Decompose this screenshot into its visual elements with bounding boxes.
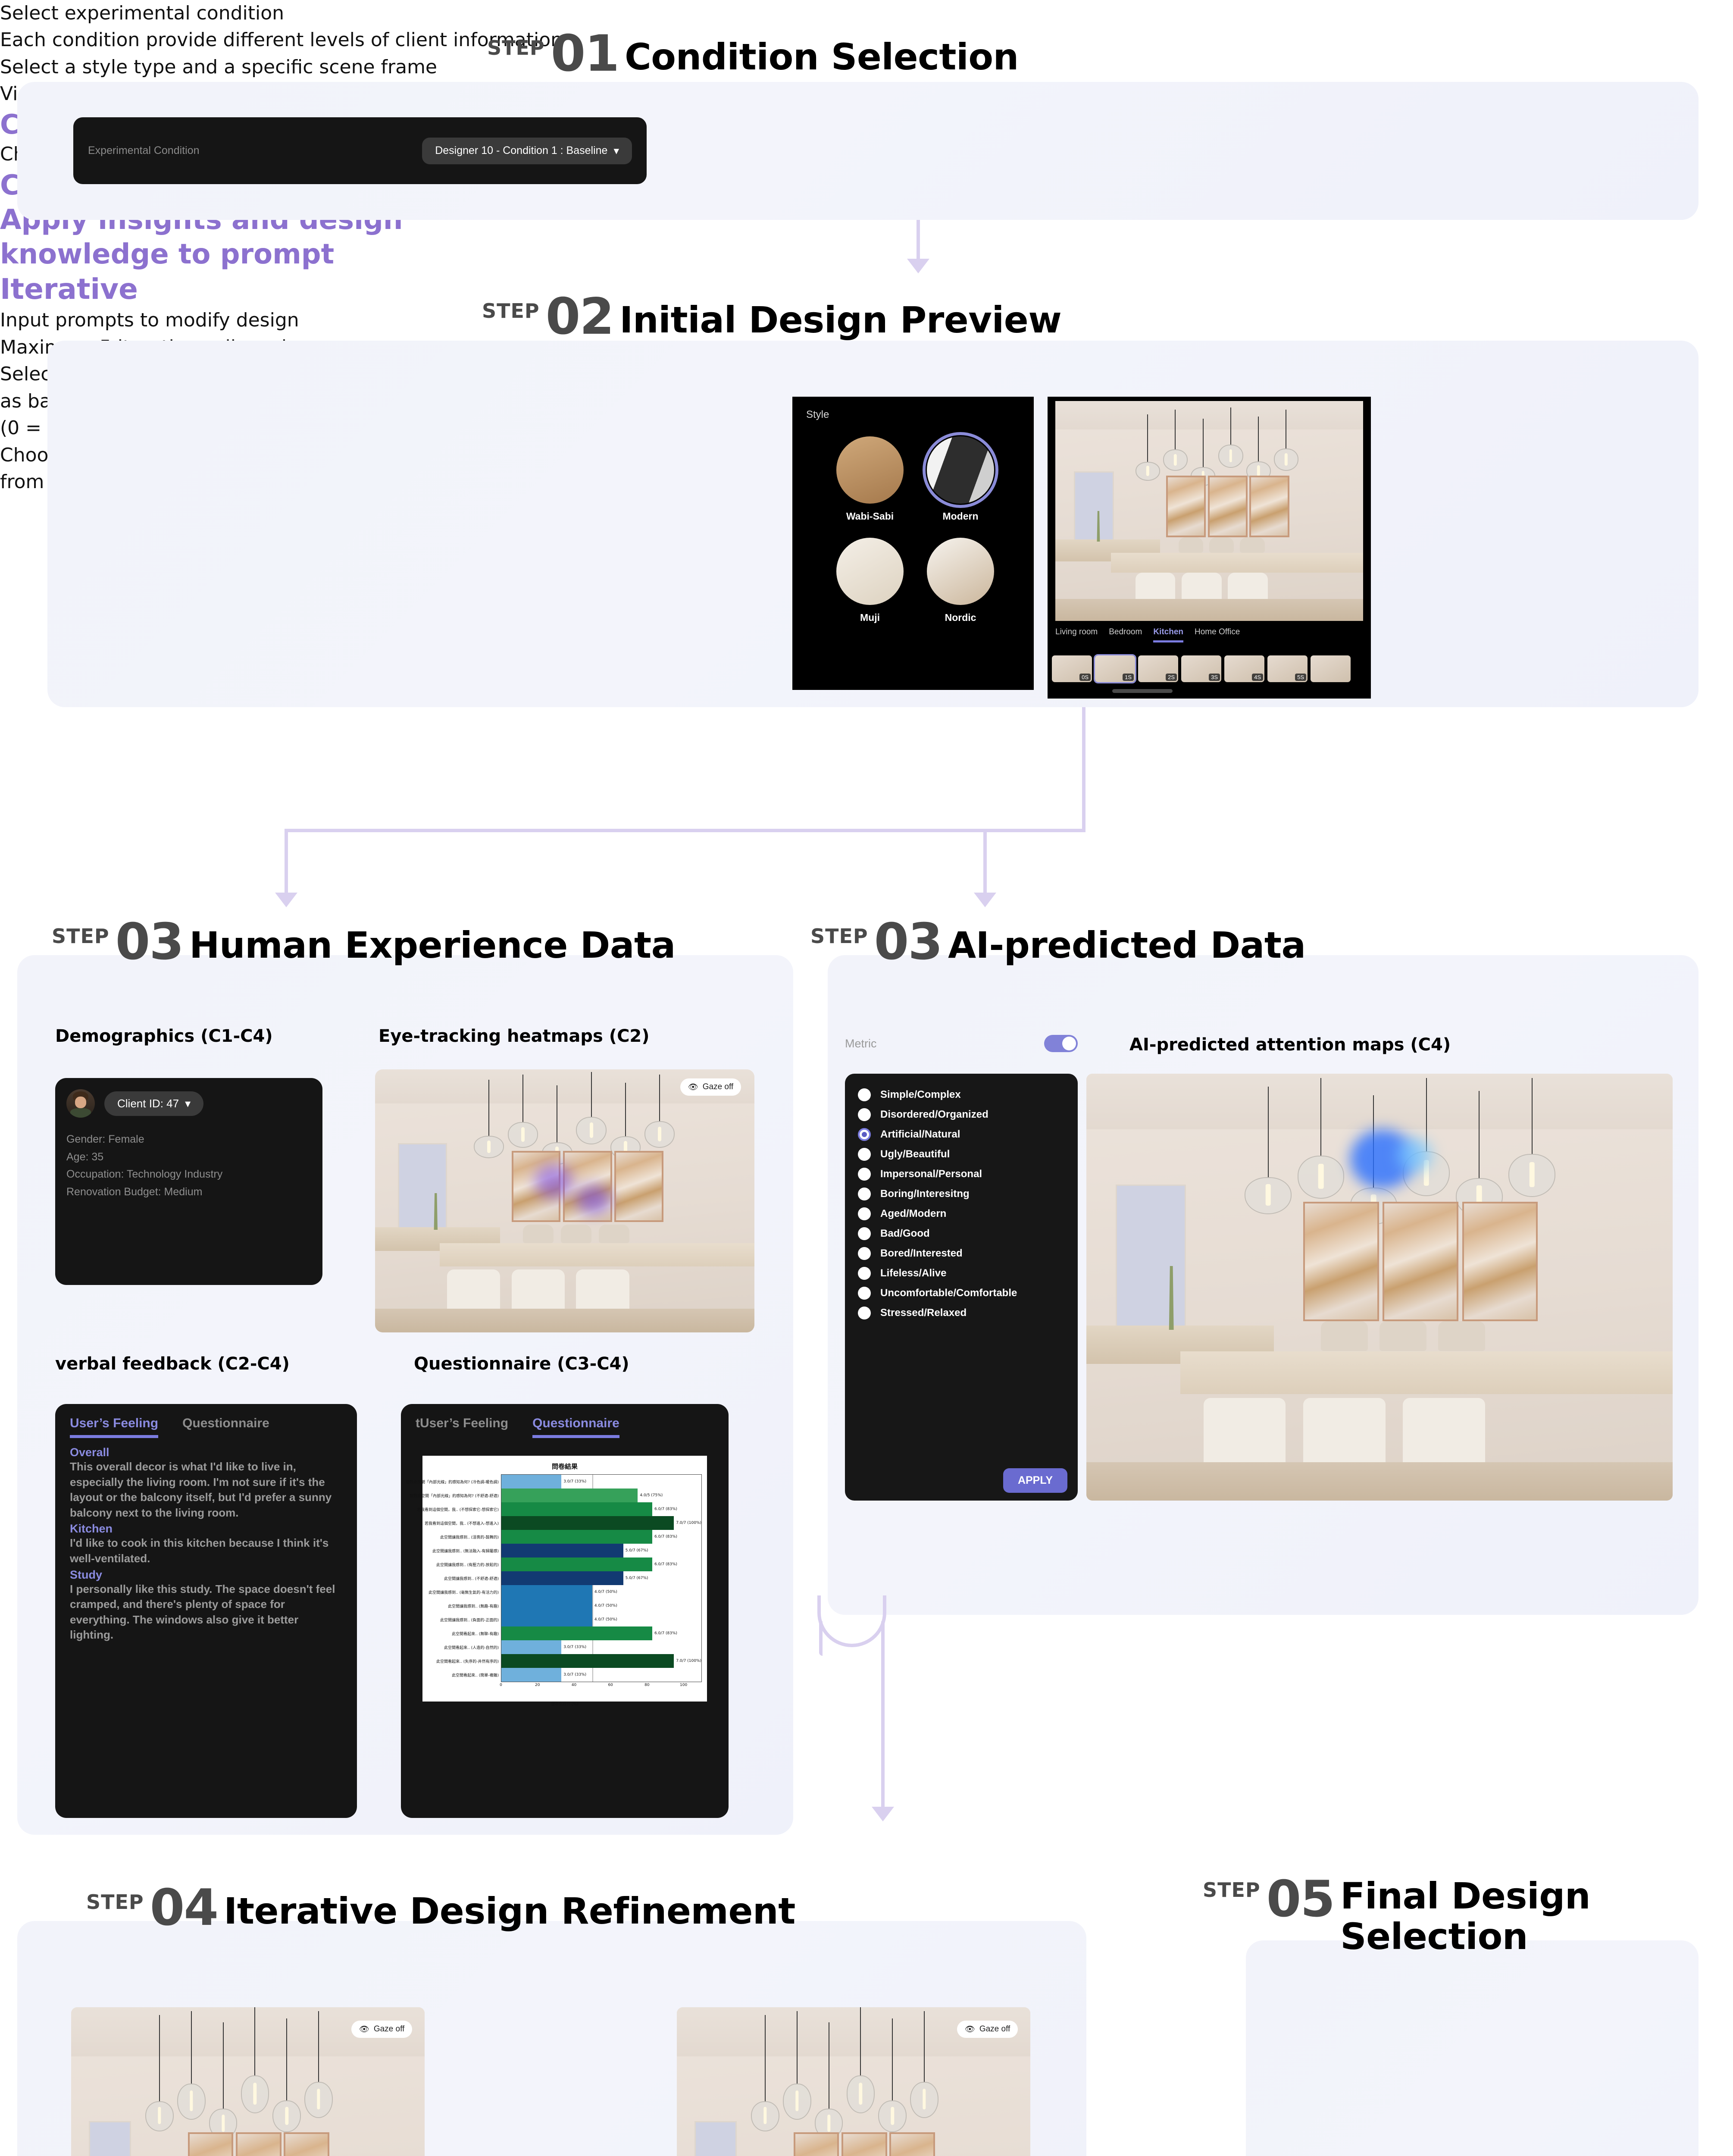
radio-icon-selected[interactable]: [858, 1128, 871, 1141]
metric-option[interactable]: Bad/Good: [845, 1224, 1078, 1244]
feedback-paragraph: I personally like this study. The space …: [70, 1582, 342, 1643]
radio-icon[interactable]: [858, 1227, 871, 1240]
step-number: 04: [150, 1884, 218, 1932]
chart-category-label: 您對此空間「內部光線」的感知為何? (不舒適-舒適): [410, 1493, 501, 1498]
chart-bar: [501, 1502, 652, 1516]
chart-category-label: 此空間看起來.. (失序的-井然有序的): [436, 1658, 501, 1664]
branch-left-drop: [285, 829, 288, 902]
chart-bar: [501, 1475, 561, 1489]
tab-questionnaire[interactable]: Questionnaire: [532, 1416, 619, 1438]
step-number: 02: [546, 293, 613, 341]
room-tab-bedroom[interactable]: Bedroom: [1109, 627, 1142, 640]
iteration-image-before[interactable]: 👁 Gaze off 0 1: [71, 2007, 425, 2156]
style-option-nordic[interactable]: Nordic: [922, 538, 999, 624]
chart-bar-row: 此空間讓我感到.. (沮喪的-鼓舞的)6.0/7 (83%): [501, 1530, 701, 1544]
chart-x-tick: 100: [680, 1683, 687, 1687]
chart-value-label: 3.0/7 (33%): [563, 1645, 586, 1649]
metric-label: Metric: [845, 1037, 877, 1050]
frame-thumb-label: 5S: [1295, 674, 1306, 681]
scene-preview-panel: Living room Bedroom Kitchen Home Office …: [1048, 397, 1371, 699]
step-title: Iterative Design Refinement: [224, 1893, 795, 1932]
eye-off-icon: 👁: [359, 2024, 369, 2034]
chart-x-tick: 60: [608, 1683, 613, 1687]
step-02-header: STEP 02 Initial Design Preview: [482, 293, 1061, 341]
chart-category-label: 此空間讓我感到.. (不舒適-舒適): [444, 1576, 501, 1581]
tab-questionnaire[interactable]: Questionnaire: [182, 1416, 269, 1438]
frame-thumb-label: 3S: [1209, 674, 1220, 681]
metric-option[interactable]: Uncomfortable/Comfortable: [845, 1283, 1078, 1303]
style-thumb: [927, 538, 994, 605]
metric-option[interactable]: Disordered/Organized: [845, 1105, 1078, 1125]
step-title: Initial Design Preview: [619, 302, 1061, 341]
chart-bar-row: 此空間看起來.. (失序的-井然有序的)7.0/7 (100%): [501, 1654, 701, 1668]
chart-bar-row: 此空間讓我感到.. (無趣-有趣)4.0/7 (50%): [501, 1599, 701, 1613]
style-thumb: [927, 436, 994, 504]
heatmap-blob: [576, 1185, 610, 1214]
step-word: STEP: [482, 301, 540, 341]
step-number: 05: [1267, 1876, 1334, 1923]
chart-bar: [501, 1571, 623, 1585]
chart-bar-row: 您對此空間「內部光線」的感知為何? (不舒適-舒適)4.0/5 (75%): [501, 1489, 701, 1502]
metric-option-label: Uncomfortable/Comfortable: [880, 1287, 1017, 1299]
eye-off-icon: 👁: [688, 1082, 698, 1092]
metric-option-label: Impersonal/Personal: [880, 1168, 982, 1180]
chevron-down-icon: ▾: [185, 1097, 191, 1110]
metric-toggle[interactable]: [1044, 1035, 1078, 1052]
metric-option-label: Aged/Modern: [880, 1208, 946, 1220]
chart-bar: [501, 1654, 674, 1668]
connector-3-4-line: [881, 1645, 885, 1813]
feedback-body: Overall This overall decor is what I'd l…: [55, 1438, 357, 1643]
chart-category-label: 若我看到這個空間，我.. (不想進入-想進入): [425, 1520, 501, 1526]
metric-option[interactable]: Bored/Interested: [845, 1244, 1078, 1263]
feedback-heading: Kitchen: [70, 1522, 342, 1536]
feedback-heading: Overall: [70, 1446, 342, 1459]
chart-category-label: 此空間看起來.. (無聊-有趣): [452, 1631, 501, 1636]
attention-blob: [1397, 1138, 1433, 1172]
step-number: 01: [551, 30, 619, 78]
step-number: 03: [874, 918, 942, 966]
chart-category-label: 此空間讓我感到.. (有壓力的-放鬆的): [436, 1562, 501, 1567]
chart-bar: [501, 1613, 592, 1626]
chart-bar-row: 若我看到這個空間，我.. (不想進入-想進入)7.0/7 (100%): [501, 1516, 701, 1530]
chart-value-label: 6.0/7 (83%): [654, 1562, 677, 1567]
chart-value-label: 7.0/7 (100%): [676, 1521, 701, 1525]
chart-value-label: 4.0/7 (50%): [594, 1590, 617, 1594]
branch-stem: [1082, 707, 1085, 832]
radio-icon[interactable]: [858, 1088, 871, 1101]
chart-bar: [501, 1626, 652, 1640]
chart-bar: [501, 1544, 623, 1557]
chart-x-tick: 40: [572, 1683, 576, 1687]
radio-icon[interactable]: [858, 1247, 871, 1260]
style-heading: Style: [806, 409, 829, 421]
step-title: Condition Selection: [625, 39, 1019, 78]
radio-icon[interactable]: [858, 1307, 871, 1319]
radio-icon[interactable]: [858, 1148, 871, 1161]
questionnaire-card: tUser’s Feeling Questionnaire 問卷結果 您對此空間…: [401, 1404, 729, 1818]
tab-users-feeling[interactable]: tUser’s Feeling: [416, 1416, 508, 1438]
metric-option[interactable]: Boring/Interesitng: [845, 1184, 1078, 1204]
metric-option-label: Stressed/Relaxed: [880, 1307, 967, 1319]
metric-option-label: Artificial/Natural: [880, 1128, 960, 1141]
step-word: STEP: [487, 38, 545, 78]
radio-icon[interactable]: [858, 1267, 871, 1280]
metric-option-label: Boring/Interesitng: [880, 1188, 970, 1200]
radio-icon[interactable]: [858, 1168, 871, 1181]
metric-option-label: Simple/Complex: [880, 1089, 961, 1101]
room-tab-home-office[interactable]: Home Office: [1195, 627, 1240, 640]
verbal-feedback-label: verbal feedback (C2-C4): [55, 1354, 290, 1374]
chart-value-label: 7.0/7 (100%): [676, 1659, 701, 1663]
client-id-dropdown[interactable]: Client ID: 47 ▾: [104, 1091, 203, 1116]
step-05-header: STEP 05 Final Design Selection: [1203, 1876, 1733, 1957]
metric-list[interactable]: Simple/Complex Disordered/Organized Arti…: [845, 1074, 1078, 1501]
metric-option-label: Lifeless/Alive: [880, 1267, 946, 1279]
gaze-toggle-badge[interactable]: 👁 Gaze off: [351, 2021, 413, 2038]
eye-off-icon: 👁: [965, 2024, 975, 2034]
chart-x-tick: 0: [500, 1683, 502, 1687]
chart-bar-row: 此空間讓我感到.. (無法融入-有歸屬感)5.0/7 (67%): [501, 1544, 701, 1557]
metric-option[interactable]: Lifeless/Alive: [845, 1263, 1078, 1283]
chart-bar-row: 若我看到這個空間，我.. (不想探索它-想探索它)6.0/7 (83%): [501, 1502, 701, 1516]
chart-bar-rows: 您對此空間「內部光線」的感知為何? (冷色調-暖色調)3.0/7 (33%)您對…: [501, 1475, 701, 1682]
metric-option-label: Ugly/Beautiful: [880, 1148, 950, 1160]
step-word: STEP: [810, 926, 868, 966]
gaze-toggle-badge[interactable]: 👁 Gaze off: [680, 1078, 741, 1096]
iteration-image-after[interactable]: 👁 Gaze off 0 1 2 3 4 5: [677, 2007, 1030, 2156]
radio-icon[interactable]: [858, 1287, 871, 1300]
gaze-toggle-badge[interactable]: 👁 Gaze off: [957, 2021, 1018, 2038]
chart-x-tick: 80: [644, 1683, 649, 1687]
style-option-wabi-sabi[interactable]: Wabi-Sabi: [831, 436, 909, 522]
style-option-label: Modern: [922, 511, 999, 522]
chart-category-label: 此空間讓我感到.. (沮喪的-鼓舞的): [440, 1534, 501, 1540]
metric-option[interactable]: Ugly/Beautiful: [845, 1144, 1078, 1164]
step-title: AI-predicted Data: [948, 927, 1306, 966]
style-option-modern[interactable]: Modern: [922, 436, 999, 522]
experimental-condition-bar: Experimental Condition Designer 10 - Con…: [73, 117, 647, 184]
radio-icon[interactable]: [858, 1207, 871, 1220]
gaze-badge-label: Gaze off: [979, 2024, 1010, 2034]
chart-category-label: 此空間看起來.. (人造的-自然的): [444, 1645, 501, 1650]
questionnaire-label: Questionnaire (C3-C4): [414, 1354, 629, 1374]
metric-option[interactable]: Aged/Modern: [845, 1204, 1078, 1224]
metric-option[interactable]: Artificial/Natural: [845, 1125, 1078, 1144]
chart-bar-row: 此空間看起來.. (無聊-有趣)6.0/7 (83%): [501, 1626, 701, 1640]
frame-thumb[interactable]: 3S: [1181, 655, 1221, 682]
frame-thumbnail-strip[interactable]: 0S 1S 2S 3S 4S 5S: [1052, 655, 1351, 682]
chart-category-label: 此空間看起來.. (簡單-複雜): [452, 1672, 501, 1678]
chart-bar: [501, 1530, 652, 1544]
metric-option-label: Disordered/Organized: [880, 1109, 988, 1121]
questionnaire-tabs[interactable]: tUser’s Feeling Questionnaire: [401, 1404, 729, 1438]
condition-select-value: Designer 10 - Condition 1 : Baseline: [435, 144, 607, 157]
style-thumb: [836, 436, 904, 504]
chart-value-label: 4.0/7 (50%): [594, 1604, 617, 1608]
step-05-panel: [1246, 1940, 1699, 2156]
style-thumb: [836, 538, 904, 605]
chart-category-label: 此空間讓我感到.. (無法融入-有歸屬感): [432, 1548, 501, 1554]
chart-value-label: 6.0/7 (83%): [654, 1535, 677, 1539]
chart-bar: [501, 1585, 592, 1599]
chart-value-label: 5.0/7 (67%): [626, 1576, 648, 1580]
metric-option[interactable]: Simple/Complex: [845, 1085, 1078, 1105]
condition-select[interactable]: Designer 10 - Condition 1 : Baseline ▾: [422, 138, 632, 164]
step-word: STEP: [86, 1892, 144, 1932]
chart-bar-row: 此空間讓我感到.. (毫無生氣的-有活力的)4.0/7 (50%): [501, 1585, 701, 1599]
step-word: STEP: [52, 926, 109, 966]
chart-bar: [501, 1557, 652, 1571]
chart-bar-row: 您對此空間「內部光線」的感知為何? (冷色調-暖色調)3.0/7 (33%): [501, 1475, 701, 1489]
heatmap-blob: [535, 1164, 572, 1198]
branch-horizontal: [285, 829, 1085, 832]
step-word: STEP: [1203, 1876, 1261, 1900]
frame-thumb[interactable]: 5S: [1267, 655, 1308, 682]
room-tabs[interactable]: Living room Bedroom Kitchen Home Office: [1055, 627, 1240, 642]
chart-value-label: 5.0/7 (67%): [626, 1548, 648, 1553]
step-number: 03: [116, 918, 183, 966]
style-option-label: Wabi-Sabi: [831, 511, 909, 522]
chart-bar-row: 此空間看起來.. (簡單-複雜)3.0/7 (33%): [501, 1668, 701, 1682]
room-tab-kitchen[interactable]: Kitchen: [1153, 627, 1183, 642]
feedback-paragraph: This overall decor is what I'd like to l…: [70, 1459, 342, 1520]
chart-bar: [501, 1640, 561, 1654]
frame-thumb[interactable]: 1S: [1095, 655, 1135, 682]
merge-curve: [817, 1595, 886, 1647]
chart-value-label: 4.0/7 (50%): [594, 1617, 617, 1622]
chart-category-label: 此空間讓我感到.. (負面的-正面的): [440, 1617, 501, 1623]
client-demographics-card: Client ID: 47 ▾ Gender: Female Age: 35 O…: [55, 1078, 322, 1285]
ai-attention-map-image[interactable]: [1086, 1074, 1673, 1501]
chevron-down-icon: ▾: [613, 144, 619, 157]
client-demographic-fields: Gender: Female Age: 35 Occupation: Techn…: [55, 1118, 322, 1200]
chart-plot-area: 您對此空間「內部光線」的感知為何? (冷色調-暖色調)3.0/7 (33%)您對…: [501, 1474, 702, 1682]
verbal-feedback-card: User’s Feeling Questionnaire Overall Thi…: [55, 1404, 357, 1818]
chart-value-label: 6.0/7 (83%): [654, 1507, 677, 1511]
scene-preview-image[interactable]: [1055, 401, 1363, 621]
thumbnail-scrollbar[interactable]: [1112, 689, 1173, 693]
chart-category-label: 此空間讓我感到.. (無趣-有趣): [448, 1603, 501, 1609]
eyetracking-heatmap-image[interactable]: 👁 Gaze off: [375, 1069, 754, 1332]
chart-title: 問卷結果: [428, 1462, 702, 1471]
chart-x-axis: 020406080100: [501, 1682, 702, 1695]
frame-thumb[interactable]: 0S: [1052, 655, 1092, 682]
frame-thumb[interactable]: [1311, 655, 1351, 682]
step-title: Final Design Selection: [1340, 1876, 1733, 1957]
frame-thumb-label: 4S: [1252, 674, 1263, 681]
chart-bar-row: 此空間讓我感到.. (有壓力的-放鬆的)6.0/7 (83%): [501, 1557, 701, 1571]
demographics-label: Demographics (C1-C4): [55, 1026, 273, 1046]
metric-header: Metric: [845, 1035, 1078, 1052]
chart-x-label: 標準化評分 (%): [428, 1701, 702, 1707]
frame-thumb-label: 1S: [1123, 674, 1134, 681]
room-tab-living-room[interactable]: Living room: [1055, 627, 1098, 640]
style-option-label: Nordic: [922, 612, 999, 624]
metric-option[interactable]: Impersonal/Personal: [845, 1164, 1078, 1184]
chart-value-label: 3.0/7 (33%): [563, 1673, 586, 1677]
questionnaire-chart: 問卷結果 您對此空間「內部光線」的感知為何? (冷色調-暖色調)3.0/7 (3…: [422, 1456, 707, 1702]
style-picker-panel: Style Wabi-Sabi Modern Muji Nordic: [792, 397, 1034, 690]
chart-value-label: 3.0/7 (33%): [563, 1479, 586, 1484]
connector-3-4-arrow: [872, 1807, 894, 1821]
feedback-tabs[interactable]: User’s Feeling Questionnaire: [55, 1404, 357, 1438]
branch-left-arrow: [275, 893, 297, 907]
chart-x-tick: 20: [535, 1683, 540, 1687]
connector-1-2-arrow: [907, 259, 929, 273]
frame-thumb[interactable]: 4S: [1224, 655, 1264, 682]
branch-right-drop: [983, 829, 987, 902]
step-03a-header: STEP 03 Human Experience Data: [52, 918, 676, 966]
feedback-heading: Study: [70, 1568, 342, 1582]
style-option-label: Muji: [831, 612, 909, 624]
metric-option-label: Bad/Good: [880, 1228, 930, 1240]
experimental-condition-label: Experimental Condition: [88, 144, 199, 157]
chart-bar: [501, 1489, 638, 1502]
frame-thumb-label: 2S: [1166, 674, 1177, 681]
avatar: [66, 1089, 95, 1118]
step-03b-header: STEP 03 AI-predicted Data: [810, 918, 1306, 966]
step-title: Human Experience Data: [189, 927, 676, 966]
chart-category-label: 若我看到這個空間，我.. (不想探索它-想探索它): [417, 1507, 501, 1512]
chart-bar-row: 此空間讓我感到.. (不舒適-舒適)5.0/7 (67%): [501, 1571, 701, 1585]
metric-option[interactable]: Stressed/Relaxed: [845, 1303, 1078, 1323]
frame-thumb-label: 0S: [1079, 674, 1091, 681]
client-id-value: Client ID: 47: [117, 1097, 179, 1110]
ai-attention-maps-label: AI-predicted attention maps (C4): [1129, 1035, 1451, 1055]
frame-thumb[interactable]: 2S: [1138, 655, 1178, 682]
tab-users-feeling[interactable]: User’s Feeling: [70, 1416, 158, 1438]
chart-bar: [501, 1668, 561, 1682]
branch-right-arrow: [974, 893, 996, 907]
step-04-header: STEP 04 Iterative Design Refinement: [86, 1884, 795, 1932]
gaze-badge-label: Gaze off: [374, 2024, 404, 2034]
radio-icon[interactable]: [858, 1188, 871, 1200]
feedback-paragraph: I'd like to cook in this kitchen because…: [70, 1536, 342, 1566]
chart-value-label: 4.0/5 (75%): [640, 1493, 663, 1498]
apply-button[interactable]: APPLY: [1003, 1468, 1067, 1493]
radio-icon[interactable]: [858, 1108, 871, 1121]
style-option-muji[interactable]: Muji: [831, 538, 909, 624]
chart-bar: [501, 1516, 674, 1530]
gaze-badge-label: Gaze off: [703, 1082, 733, 1092]
chart-category-label: 您對此空間「內部光線」的感知為何? (冷色調-暖色調): [406, 1479, 501, 1485]
step-01-header: STEP 01 Condition Selection: [487, 30, 1019, 78]
eyetracking-label: Eye-tracking heatmaps (C2): [379, 1026, 650, 1046]
chart-bar-row: 此空間看起來.. (人造的-自然的)3.0/7 (33%): [501, 1640, 701, 1654]
chart-bar-row: 此空間讓我感到.. (負面的-正面的)4.0/7 (50%): [501, 1613, 701, 1626]
chart-bar: [501, 1599, 592, 1613]
chart-value-label: 6.0/7 (83%): [654, 1631, 677, 1636]
chart-category-label: 此空間讓我感到.. (毫無生氣的-有活力的): [429, 1589, 501, 1595]
metric-option-label: Bored/Interested: [880, 1247, 963, 1260]
